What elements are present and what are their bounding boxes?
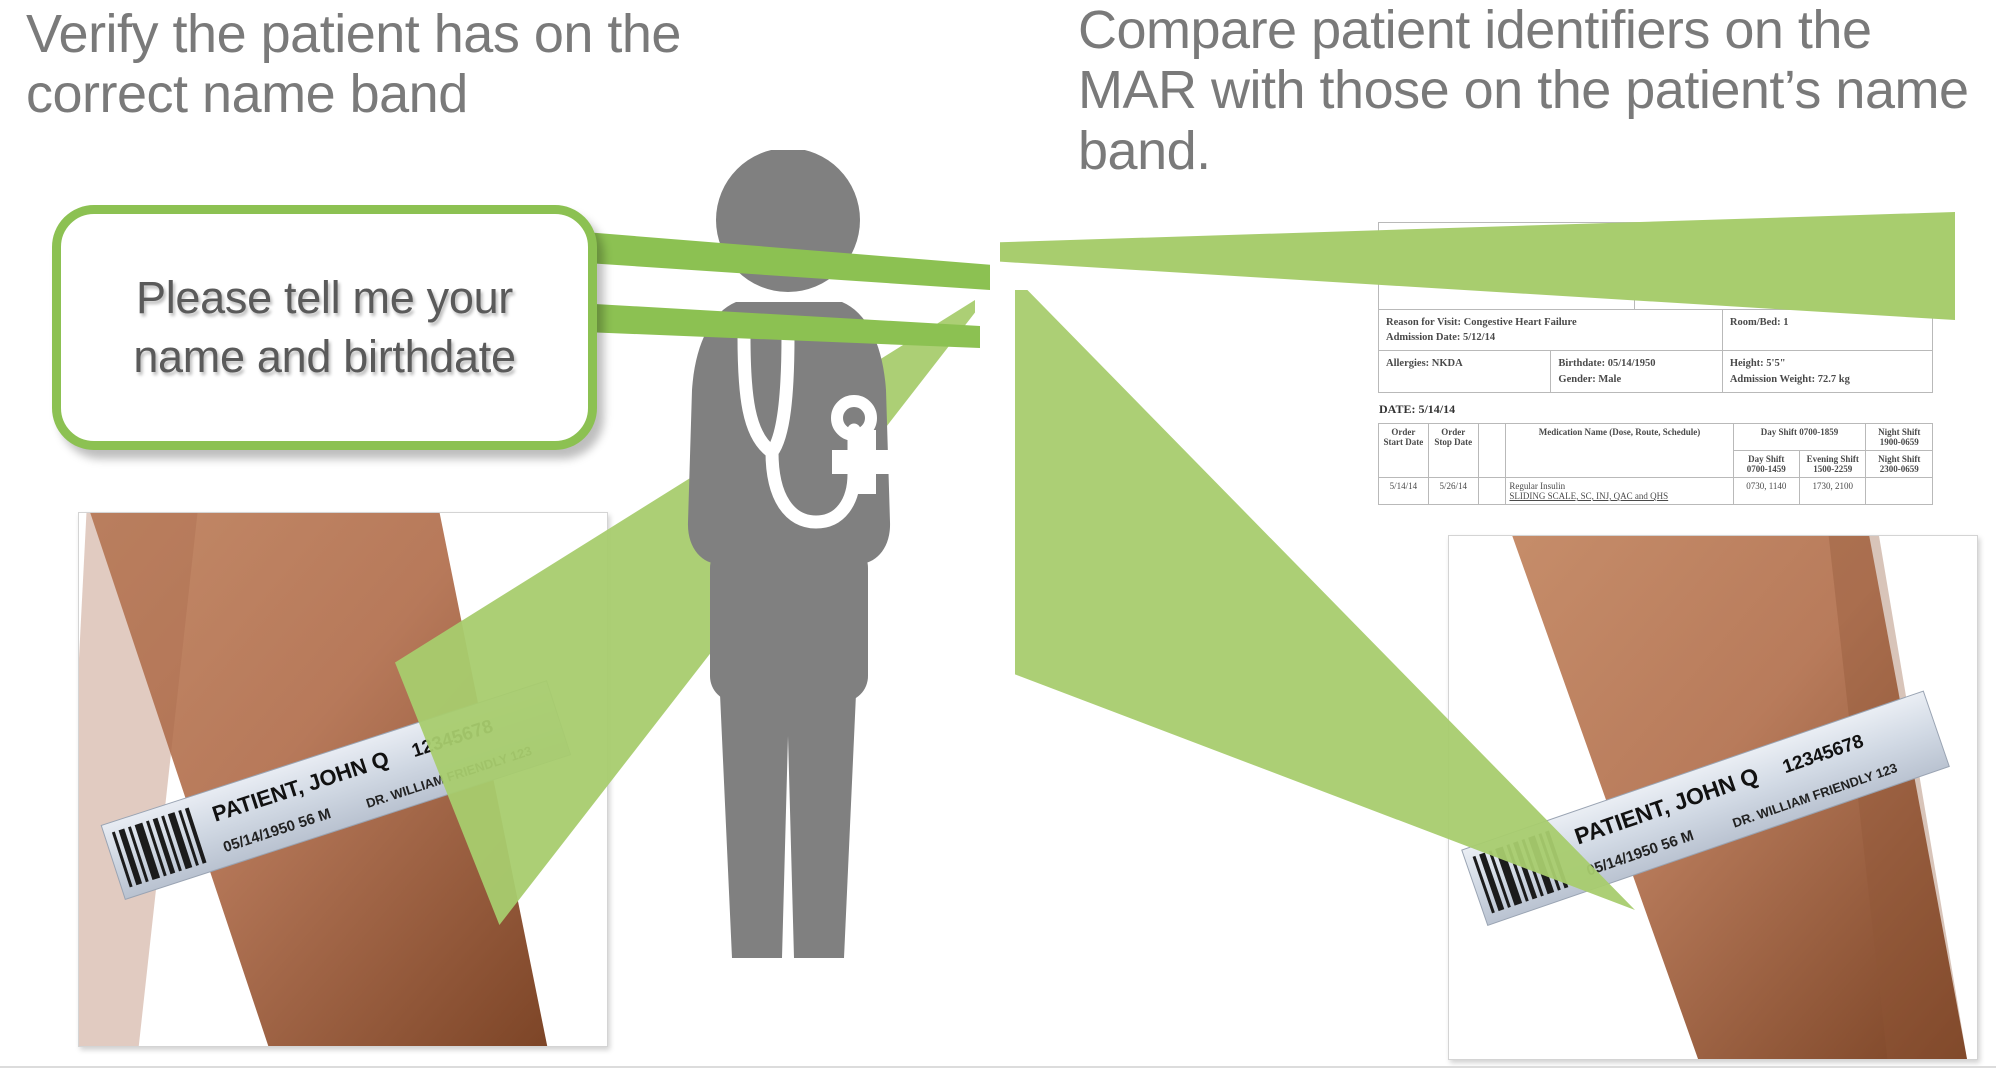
cell-blank bbox=[1478, 477, 1506, 504]
mar-allergies: Allergies: NKDA bbox=[1386, 356, 1543, 371]
right-arm-with-wristband-image: PATIENT, JOHN Q 12345678 05/14/1950 56 M… bbox=[1449, 536, 1977, 1059]
slide-canvas: Verify the patient has on the correct na… bbox=[0, 0, 1996, 1074]
mar-gender: Gender: Male bbox=[1558, 372, 1714, 387]
right-wristband-photo: PATIENT, JOHN Q 12345678 05/14/1950 56 M… bbox=[1448, 535, 1978, 1060]
th-order-start-date: Order Start Date bbox=[1379, 423, 1429, 477]
th-medication-name: Medication Name (Dose, Route, Schedule) bbox=[1506, 423, 1733, 477]
slide-footer-divider bbox=[0, 1066, 1996, 1068]
speech-bubble: Please tell me your name and birthdate bbox=[52, 205, 597, 450]
cell-order-stop-date: 5/26/14 bbox=[1428, 477, 1478, 504]
heading-verify-name-band: Verify the patient has on the correct na… bbox=[26, 4, 846, 125]
heading-compare-identifiers: Compare patient identifiers on the MAR w… bbox=[1078, 0, 1978, 181]
medication-name-primary: Regular Insulin bbox=[1509, 481, 1729, 491]
mar-height: Height: 5'5" bbox=[1730, 356, 1925, 371]
medication-name-details: SLIDING SCALE, SC, INJ, QAC and QHS bbox=[1509, 491, 1729, 501]
th-night-shift-group: Night Shift 1900-0659 bbox=[1866, 423, 1933, 450]
table-row: 5/14/14 5/26/14 Regular Insulin SLIDING … bbox=[1379, 477, 1933, 504]
mar-room-bed: Room/Bed: 1 bbox=[1730, 315, 1925, 330]
mar-admission-date: Admission Date: 5/12/14 bbox=[1386, 330, 1715, 345]
mar-measurements-cell: Height: 5'5" Admission Weight: 72.7 kg bbox=[1722, 351, 1932, 391]
th-night-shift: Night Shift 2300-0659 bbox=[1866, 450, 1933, 477]
mar-date-line: DATE: 5/14/14 bbox=[1379, 402, 1933, 417]
mar-demographics-row: Allergies: NKDA Birthdate: 05/14/1950 Ge… bbox=[1378, 351, 1933, 392]
mar-visit-row: Reason for Visit: Congestive Heart Failu… bbox=[1378, 310, 1933, 351]
medication-administration-table: Order Start Date Order Stop Date Medicat… bbox=[1378, 423, 1933, 505]
mar-allergies-cell: Allergies: NKDA bbox=[1379, 351, 1550, 391]
th-day-shift: Day Shift 0700-1459 bbox=[1733, 450, 1799, 477]
cell-night-shift-times bbox=[1866, 477, 1933, 504]
cell-evening-shift-times: 1730, 2100 bbox=[1800, 477, 1866, 504]
cell-day-shift-times: 0730, 1140 bbox=[1733, 477, 1799, 504]
mar-admission-weight: Admission Weight: 72.7 kg bbox=[1730, 372, 1925, 387]
speech-bubble-text: Please tell me your name and birthdate bbox=[61, 269, 588, 386]
mar-birth-gender-cell: Birthdate: 05/14/1950 Gender: Male bbox=[1550, 351, 1721, 391]
mar-birthdate: Birthdate: 05/14/1950 bbox=[1558, 356, 1714, 371]
cell-medication-name: Regular Insulin SLIDING SCALE, SC, INJ, … bbox=[1506, 477, 1733, 504]
th-evening-shift: Evening Shift 1500-2259 bbox=[1800, 450, 1866, 477]
th-blank bbox=[1478, 423, 1506, 477]
th-order-stop-date: Order Stop Date bbox=[1428, 423, 1478, 477]
mar-visit-cell: Reason for Visit: Congestive Heart Failu… bbox=[1379, 310, 1722, 350]
med-table-header-group-row: Order Start Date Order Stop Date Medicat… bbox=[1379, 423, 1933, 450]
mar-reason-for-visit: Reason for Visit: Congestive Heart Failu… bbox=[1386, 315, 1715, 330]
th-day-shift-group: Day Shift 0700-1859 bbox=[1733, 423, 1866, 450]
cell-order-start-date: 5/14/14 bbox=[1379, 477, 1429, 504]
